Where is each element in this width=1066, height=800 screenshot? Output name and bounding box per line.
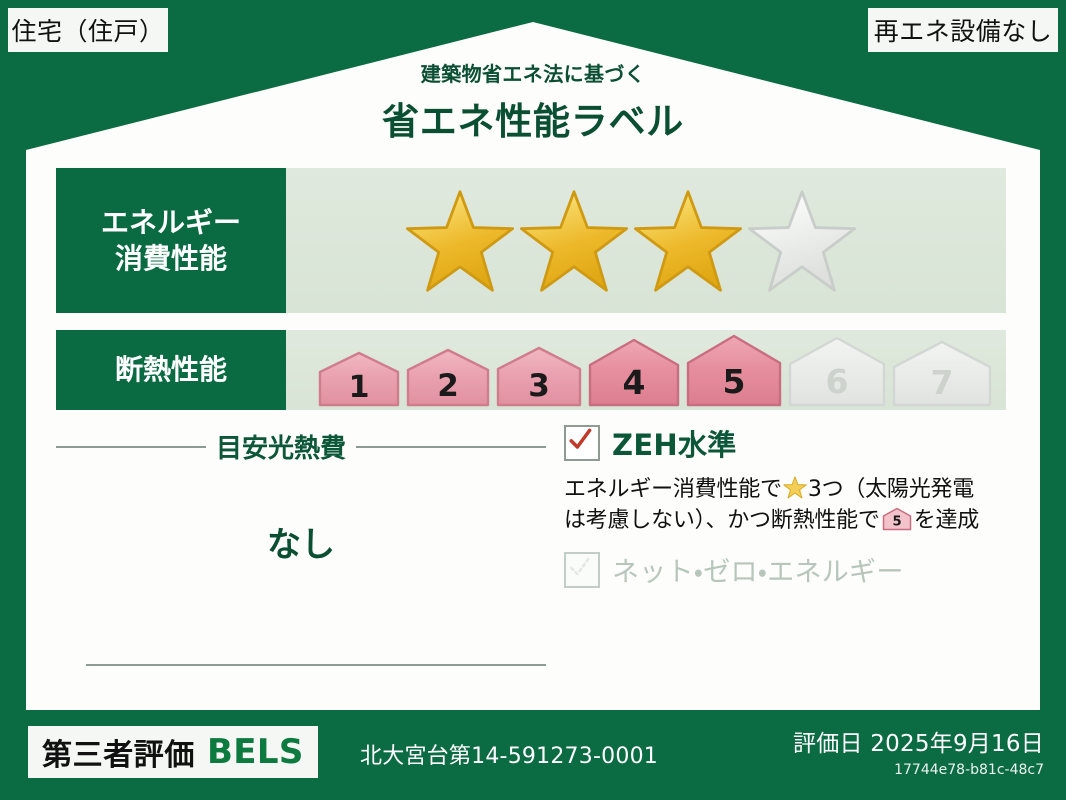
zeh-description-part4: を達成 bbox=[914, 508, 979, 533]
insulation-performance-label: 断熱性能 bbox=[56, 330, 286, 410]
label-body-card: エネルギー 消費性能 bbox=[28, 150, 1038, 705]
inline-house-badge-icon: 5 bbox=[882, 507, 912, 531]
insulation-house-7-number: 7 bbox=[931, 363, 954, 402]
zeh-description-part1: エネルギー消費性能で bbox=[564, 477, 782, 502]
star-icon-filled-3 bbox=[632, 187, 744, 295]
bels-logo: 第三者評価 BELS bbox=[28, 726, 318, 778]
insulation-house-4-number: 4 bbox=[623, 363, 646, 402]
net-zero-energy-label: ネット・ゼロ・エネルギー bbox=[612, 550, 904, 589]
evaluation-info: 評価日 2025年9月16日 17744e78-b81c-48c7 bbox=[793, 724, 1044, 778]
insulation-house-2-number: 2 bbox=[437, 368, 459, 404]
bels-energy-label: 住宅（住戸） 再エネ設備なし 建築物省エネ法に基づく 省エネ性能ラベル エネルギ… bbox=[0, 0, 1066, 800]
insulation-house-6: 6 bbox=[786, 334, 888, 408]
energy-label-line2: 消費性能 bbox=[115, 242, 227, 275]
insulation-house-3-number: 3 bbox=[528, 368, 550, 404]
inline-star-icon bbox=[783, 476, 807, 499]
insulation-house-1: 1 bbox=[316, 350, 402, 408]
energy-performance-row: エネルギー 消費性能 bbox=[56, 168, 1006, 313]
insulation-house-5: 5 bbox=[684, 332, 784, 408]
evaluation-date: 評価日 2025年9月16日 bbox=[793, 724, 1044, 758]
insulation-performance-row: 断熱性能 bbox=[56, 330, 1006, 410]
label-heading: 建築物省エネ法に基づく 省エネ性能ラベル bbox=[0, 58, 1066, 145]
zeh-standard-checkbox bbox=[564, 425, 600, 461]
heading-subtitle: 建築物省エネ法に基づく bbox=[0, 58, 1066, 87]
insulation-house-7: 7 bbox=[890, 338, 994, 408]
insulation-house-1-number: 1 bbox=[349, 370, 370, 405]
badge-renewable-energy: 再エネ設備なし bbox=[868, 8, 1058, 52]
insulation-house-2: 2 bbox=[404, 346, 492, 408]
star-icon-filled-1 bbox=[404, 187, 516, 295]
evaluation-hash: 17744e78-b81c-48c7 bbox=[793, 762, 1044, 778]
star-icon-filled-2 bbox=[518, 187, 630, 295]
energy-performance-label: エネルギー 消費性能 bbox=[56, 168, 286, 313]
zeh-description: エネルギー消費性能で3つ（太陽光発電は考慮しない）、かつ断熱性能で5を達成 bbox=[564, 474, 1006, 536]
checkmark-icon-disabled bbox=[566, 553, 594, 581]
energy-performance-value bbox=[286, 168, 1006, 313]
insulation-house-3: 3 bbox=[494, 344, 584, 408]
insulation-level-scale: 1 2 3 bbox=[286, 332, 994, 408]
bels-logo-jp: 第三者評価 bbox=[42, 730, 195, 774]
star-rating bbox=[286, 187, 858, 295]
insulation-house-4: 4 bbox=[586, 336, 682, 408]
utility-cost-title: 目安光熱費 bbox=[216, 428, 346, 465]
inline-house-badge-number: 5 bbox=[892, 515, 901, 530]
zeh-panel: ZEH水準 エネルギー消費性能で3つ（太陽光発電は考慮しない）、かつ断熱性能で5… bbox=[546, 422, 1006, 684]
badge-building-type: 住宅（住戸） bbox=[8, 8, 168, 52]
heading-title: 省エネ性能ラベル bbox=[0, 91, 1066, 145]
bels-logo-en: BELS bbox=[207, 732, 304, 772]
utility-cost-header: 目安光熱費 bbox=[56, 428, 546, 465]
utility-cost-panel: 目安光熱費 なし bbox=[56, 422, 546, 684]
divider-right bbox=[356, 446, 546, 448]
utility-cost-value: なし bbox=[56, 517, 546, 566]
insulation-house-5-number: 5 bbox=[723, 362, 746, 401]
zeh-standard-label: ZEH水準 bbox=[612, 422, 737, 464]
lower-panels: 目安光熱費 なし ZEH水準 エネルギー消費性能で3つ（太陽光発電は考慮 bbox=[56, 422, 1006, 684]
label-footer: 第三者評価 BELS 北大宮台第14-591273-0001 評価日 2025年… bbox=[0, 710, 1066, 800]
insulation-house-6-number: 6 bbox=[826, 362, 849, 401]
certificate-number: 北大宮台第14-591273-0001 bbox=[360, 738, 658, 770]
zeh-standard-row: ZEH水準 bbox=[564, 422, 1006, 464]
insulation-performance-value: 1 2 3 bbox=[286, 330, 1006, 410]
star-icon-empty-4 bbox=[746, 187, 858, 295]
net-zero-energy-checkbox bbox=[564, 552, 600, 588]
zeh-description-part2: 3つ（太陽光発電 bbox=[808, 477, 974, 502]
checkmark-icon bbox=[566, 426, 594, 454]
energy-label-line1: エネルギー bbox=[101, 206, 241, 239]
zeh-description-part3: は考慮しない）、かつ断熱性能で bbox=[564, 508, 880, 533]
net-zero-energy-row: ネット・ゼロ・エネルギー bbox=[564, 550, 1006, 589]
divider-left bbox=[56, 446, 206, 448]
utility-cost-footer-divider bbox=[86, 664, 546, 666]
